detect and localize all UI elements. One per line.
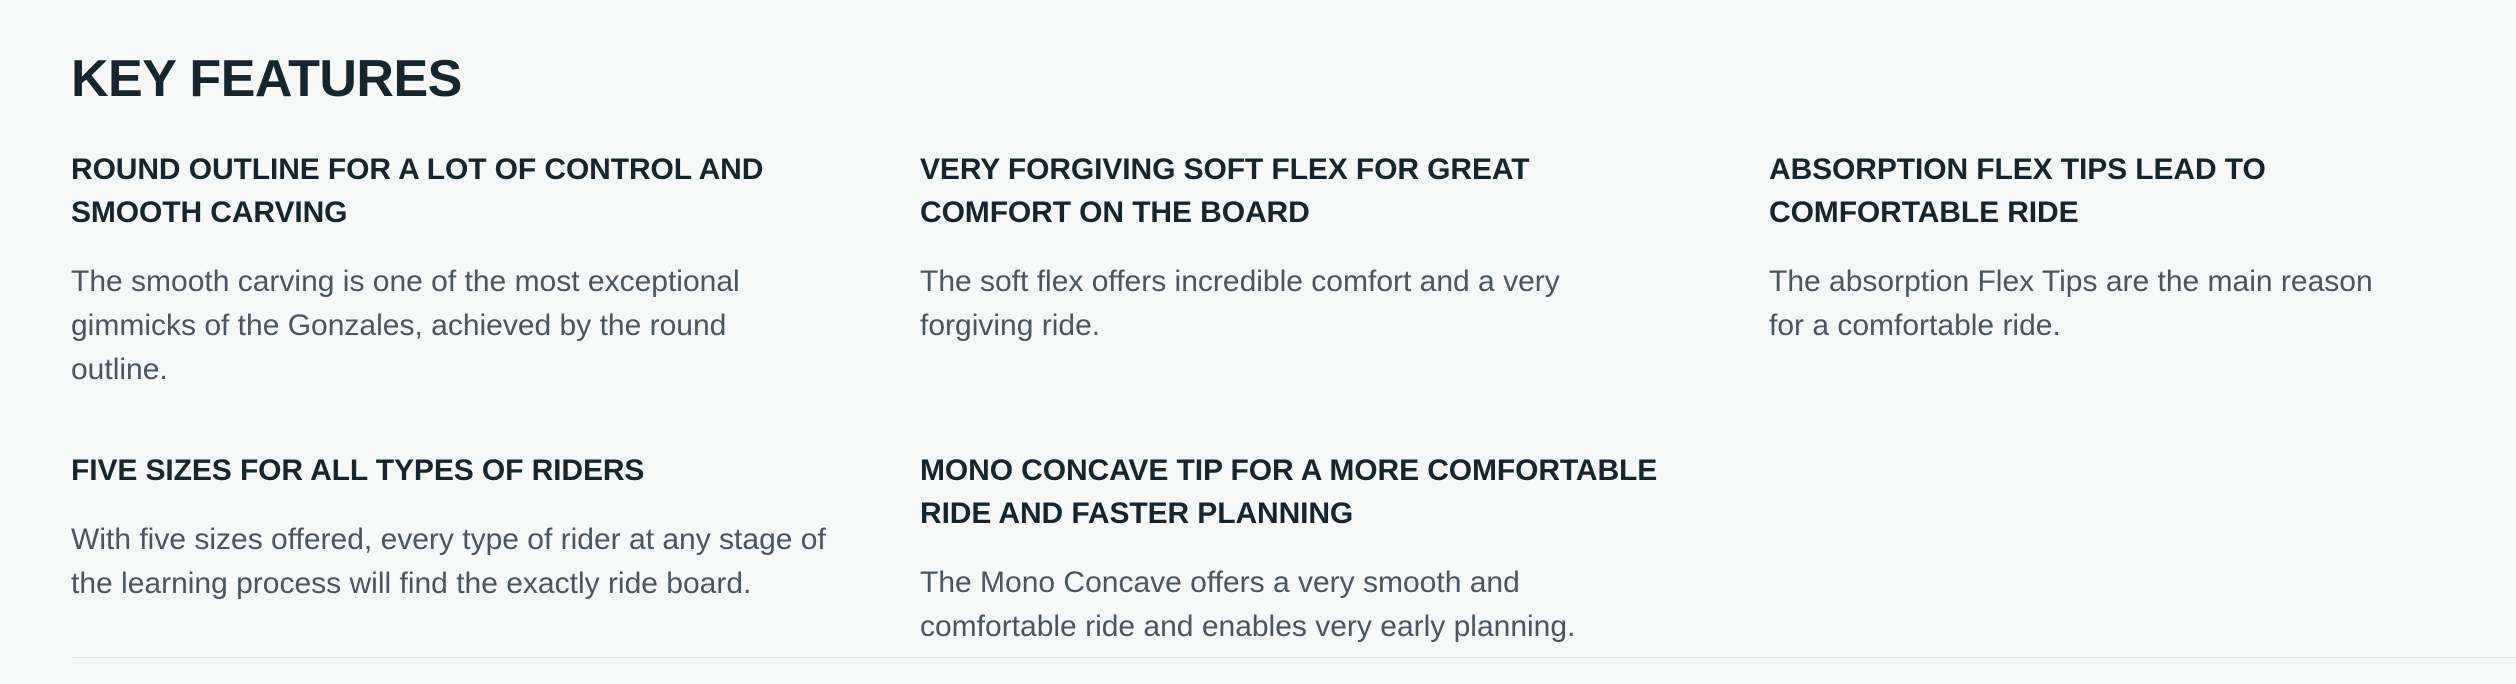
feature-item-round-outline: ROUND OUTLINE FOR A LOT OF CONTROL AND S… <box>71 148 920 392</box>
feature-heading: MONO CONCAVE TIP FOR A MORE COMFORTABLE … <box>920 449 1680 535</box>
feature-description: The smooth carving is one of the most ex… <box>71 260 831 392</box>
key-features-section: KEY FEATURES ROUND OUTLINE FOR A LOT OF … <box>0 0 2516 684</box>
section-divider <box>71 657 2516 658</box>
feature-item-absorption-flex-tips: ABSORPTION FLEX TIPS LEAD TO COMFORTABLE… <box>1769 148 2445 392</box>
feature-item-mono-concave-tip: MONO CONCAVE TIP FOR A MORE COMFORTABLE … <box>920 449 1769 649</box>
feature-item-placeholder <box>1769 449 2445 649</box>
feature-item-soft-flex: VERY FORGIVING SOFT FLEX FOR GREAT COMFO… <box>920 148 1769 392</box>
features-grid: ROUND OUTLINE FOR A LOT OF CONTROL AND S… <box>71 148 2445 649</box>
feature-heading: FIVE SIZES FOR ALL TYPES OF RIDERS <box>71 449 831 492</box>
feature-description: With five sizes offered, every type of r… <box>71 518 831 606</box>
feature-heading: ABSORPTION FLEX TIPS LEAD TO COMFORTABLE… <box>1769 148 2375 234</box>
feature-heading: VERY FORGIVING SOFT FLEX FOR GREAT COMFO… <box>920 148 1680 234</box>
feature-description: The absorption Flex Tips are the main re… <box>1769 260 2375 348</box>
feature-description: The Mono Concave offers a very smooth an… <box>920 561 1680 649</box>
feature-heading: ROUND OUTLINE FOR A LOT OF CONTROL AND S… <box>71 148 831 234</box>
feature-item-five-sizes: FIVE SIZES FOR ALL TYPES OF RIDERS With … <box>71 449 920 649</box>
feature-description: The soft flex offers incredible comfort … <box>920 260 1680 348</box>
page-title: KEY FEATURES <box>71 48 462 110</box>
